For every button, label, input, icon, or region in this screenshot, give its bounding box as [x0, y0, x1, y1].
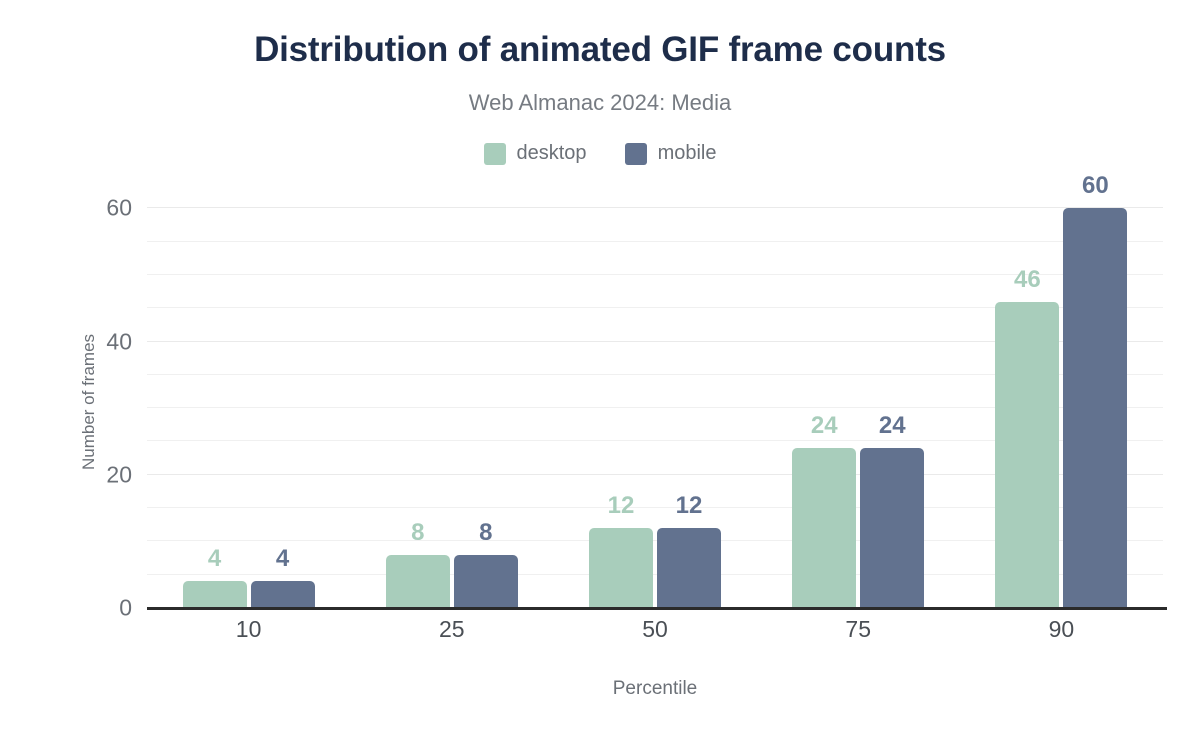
bar-value-label: 8: [454, 519, 518, 547]
bar-value-label: 12: [589, 492, 653, 520]
legend-label-mobile: mobile: [658, 142, 717, 165]
x-axis-title: Percentile: [147, 678, 1163, 700]
chart-figure: Distribution of animated GIF frame count…: [0, 0, 1200, 742]
bar-group-10: 44: [147, 195, 350, 608]
bar-holder-desktop-10: 4: [183, 195, 247, 608]
bar-value-label: 12: [657, 492, 721, 520]
x-axis-ticks: 1025507590: [147, 616, 1163, 643]
bar-mobile-10[interactable]: [251, 581, 315, 608]
bar-mobile-90[interactable]: [1063, 208, 1127, 608]
bar-desktop-75[interactable]: [792, 448, 856, 608]
bar-group-bars: 4660: [960, 195, 1163, 608]
bar-group-bars: 2424: [757, 195, 960, 608]
bar-mobile-75[interactable]: [860, 448, 924, 608]
bar-value-label: 46: [995, 266, 1059, 294]
bar-group-50: 1212: [553, 195, 756, 608]
legend-item-desktop[interactable]: desktop: [484, 142, 587, 165]
bar-holder-mobile-75: 24: [860, 195, 924, 608]
bar-desktop-90[interactable]: [995, 302, 1059, 608]
bar-holder-desktop-75: 24: [792, 195, 856, 608]
x-tick-label-50: 50: [553, 616, 756, 643]
bar-value-label: 24: [792, 412, 856, 440]
x-tick-label-10: 10: [147, 616, 350, 643]
bar-value-label: 4: [251, 545, 315, 573]
bar-group-75: 2424: [757, 195, 960, 608]
y-tick-label: 0: [84, 595, 132, 622]
chart-subtitle: Web Almanac 2024: Media: [0, 90, 1200, 116]
bar-value-label: 60: [1063, 172, 1127, 200]
legend-swatch-desktop: [484, 143, 506, 165]
bar-desktop-25[interactable]: [386, 555, 450, 608]
bar-groups: 4488121224244660: [147, 195, 1163, 608]
bar-group-90: 4660: [960, 195, 1163, 608]
bar-mobile-25[interactable]: [454, 555, 518, 608]
y-tick-label: 60: [84, 195, 132, 222]
x-tick-label-25: 25: [350, 616, 553, 643]
bar-group-25: 88: [350, 195, 553, 608]
x-tick-label-75: 75: [757, 616, 960, 643]
y-axis-ticks: 0204060: [84, 195, 132, 608]
bar-holder-mobile-50: 12: [657, 195, 721, 608]
bar-value-label: 4: [183, 545, 247, 573]
chart-legend: desktopmobile: [0, 142, 1200, 165]
bar-holder-mobile-25: 8: [454, 195, 518, 608]
x-tick-label-90: 90: [960, 616, 1163, 643]
bar-value-label: 8: [386, 519, 450, 547]
y-axis-title-wrap: Number of frames: [0, 195, 60, 608]
bar-holder-mobile-90: 60: [1063, 195, 1127, 608]
y-tick-label: 40: [84, 328, 132, 355]
bar-holder-desktop-50: 12: [589, 195, 653, 608]
bar-group-bars: 1212: [553, 195, 756, 608]
legend-label-desktop: desktop: [517, 142, 587, 165]
chart-title: Distribution of animated GIF frame count…: [0, 30, 1200, 70]
bar-holder-desktop-25: 8: [386, 195, 450, 608]
bar-mobile-50[interactable]: [657, 528, 721, 608]
y-tick-label: 20: [84, 461, 132, 488]
bar-holder-mobile-10: 4: [251, 195, 315, 608]
legend-swatch-mobile: [625, 143, 647, 165]
bar-desktop-50[interactable]: [589, 528, 653, 608]
bar-holder-desktop-90: 46: [995, 195, 1059, 608]
bar-group-bars: 44: [147, 195, 350, 608]
bar-value-label: 24: [860, 412, 924, 440]
x-axis-line: [147, 607, 1167, 610]
bar-group-bars: 88: [350, 195, 553, 608]
bar-desktop-10[interactable]: [183, 581, 247, 608]
plot-area: 4488121224244660: [147, 195, 1163, 608]
legend-item-mobile[interactable]: mobile: [625, 142, 717, 165]
